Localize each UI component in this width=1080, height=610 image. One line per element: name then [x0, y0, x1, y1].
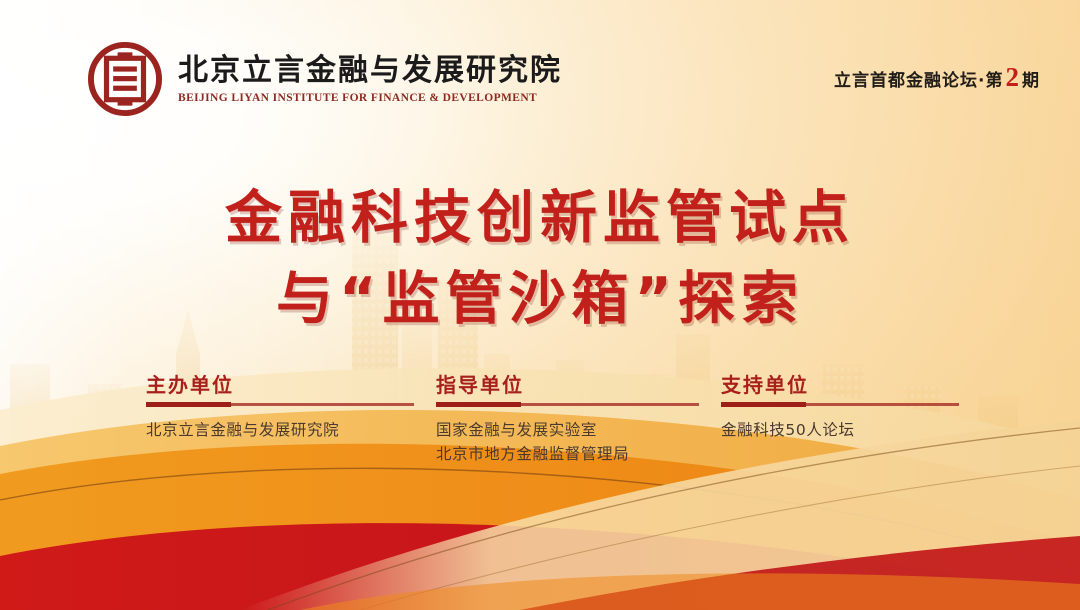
poster-canvas: 北京立言金融与发展研究院 BEIJING LIYAN INSTITUTE FOR…: [0, 0, 1080, 610]
rule-thick-segment: [721, 402, 806, 407]
forum-issue-tag: 立言首都金融论坛·第 2 期: [834, 64, 1040, 95]
unit-guidance-line-2: 北京市地方金融监督管理局: [436, 442, 721, 466]
unit-organizer-rule: [146, 402, 436, 407]
unit-organizer-heading: 主办单位: [146, 374, 436, 396]
forum-tag-prefix: 立言首都金融论坛·第: [834, 66, 1003, 91]
rule-thin-segment: [231, 403, 414, 406]
title-line-2: 与“监管沙箱”探索: [0, 259, 1080, 340]
unit-support: 支持单位 金融科技50人论坛: [721, 374, 981, 466]
page-title: 金融科技创新监管试点 与“监管沙箱”探索: [0, 178, 1080, 340]
rule-thin-segment: [521, 403, 699, 406]
rule-thick-segment: [436, 402, 521, 407]
forum-tag-suffix: 期: [1022, 66, 1040, 91]
brand-text: 北京立言金融与发展研究院 BEIJING LIYAN INSTITUTE FOR…: [178, 54, 562, 104]
unit-guidance: 指导单位 国家金融与发展实验室 北京市地方金融监督管理局: [436, 374, 721, 466]
title-line-1: 金融科技创新监管试点: [0, 178, 1080, 259]
unit-support-heading: 支持单位: [721, 374, 981, 396]
brand-name-cn: 北京立言金融与发展研究院: [178, 54, 562, 89]
unit-guidance-body: 国家金融与发展实验室 北京市地方金融监督管理局: [436, 418, 721, 466]
unit-guidance-heading: 指导单位: [436, 374, 721, 396]
units-row: 主办单位 北京立言金融与发展研究院 指导单位 国家金融与发展实验室 北京市地方金…: [0, 374, 1080, 466]
header: 北京立言金融与发展研究院 BEIJING LIYAN INSTITUTE FOR…: [88, 42, 1040, 116]
rule-thick-segment: [146, 402, 231, 407]
unit-organizer: 主办单位 北京立言金融与发展研究院: [146, 374, 436, 466]
unit-support-rule: [721, 402, 981, 407]
rule-thin-segment: [806, 403, 959, 406]
unit-guidance-line-1: 国家金融与发展实验室: [436, 418, 721, 442]
unit-organizer-line-1: 北京立言金融与发展研究院: [146, 418, 436, 442]
unit-support-body: 金融科技50人论坛: [721, 418, 981, 442]
unit-organizer-body: 北京立言金融与发展研究院: [146, 418, 436, 442]
liyan-seal-icon: [88, 42, 162, 116]
skyline-red-silhouette: [0, 450, 1080, 610]
brand-name-en: BEIJING LIYAN INSTITUTE FOR FINANCE & DE…: [178, 92, 562, 104]
unit-support-line-1: 金融科技50人论坛: [721, 418, 981, 442]
forum-issue-number: 2: [1004, 64, 1023, 91]
unit-guidance-rule: [436, 402, 721, 407]
